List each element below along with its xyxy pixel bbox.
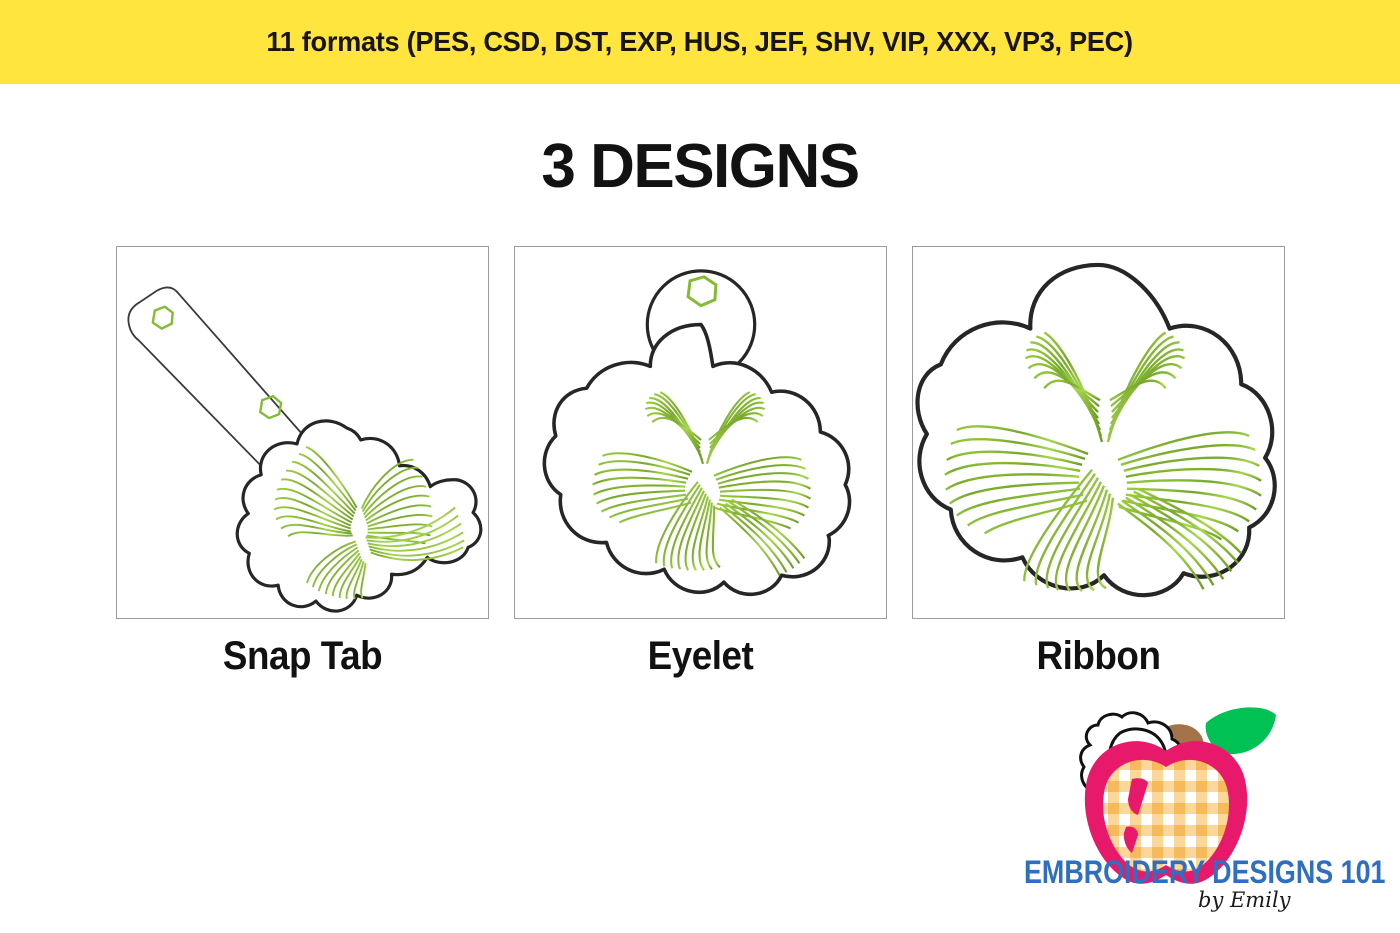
design-labels-row: Snap Tab Eyelet Ribbon <box>116 634 1285 690</box>
design-label-snap-tab: Snap Tab <box>131 634 474 690</box>
format-banner-text: 11 formats (PES, CSD, DST, EXP, HUS, JEF… <box>267 26 1133 58</box>
snap-hole-upper <box>153 307 173 329</box>
design-panel-snap-tab[interactable] <box>116 246 489 619</box>
format-banner: 11 formats (PES, CSD, DST, EXP, HUS, JEF… <box>0 0 1400 84</box>
logo-title: EMBROIDERY DESIGNS 101 <box>1024 854 1385 891</box>
design-label-ribbon: Ribbon <box>927 634 1270 690</box>
shamrock-outline <box>544 325 849 595</box>
design-panel-ribbon[interactable] <box>912 246 1285 619</box>
logo-byline: by Emily <box>1198 888 1291 912</box>
design-label-eyelet: Eyelet <box>529 634 872 690</box>
page-title: 3 DESIGNS <box>0 131 1400 202</box>
design-panel-eyelet[interactable] <box>514 246 887 619</box>
designs-row <box>116 246 1285 619</box>
